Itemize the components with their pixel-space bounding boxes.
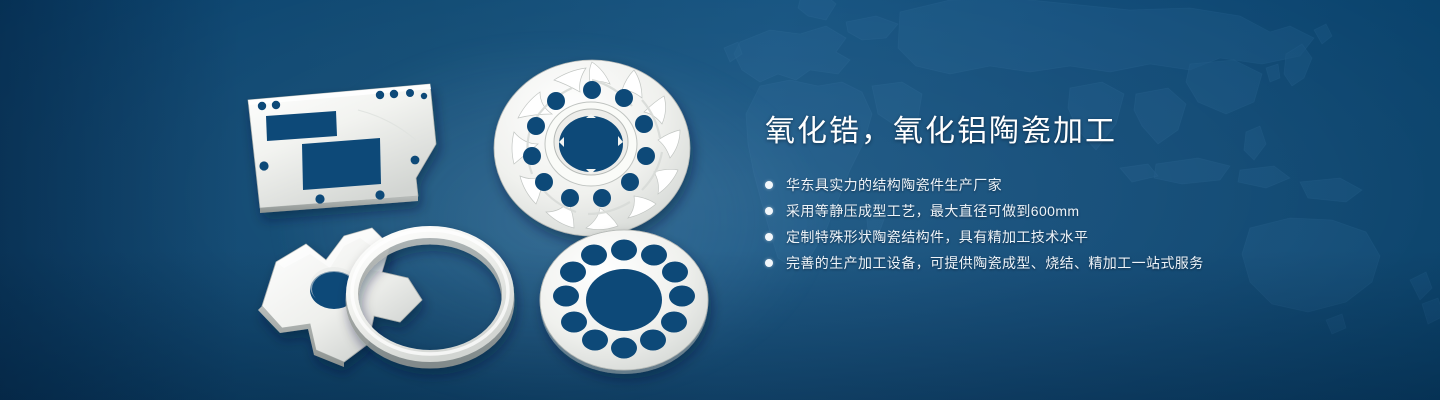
banner-copy: 氧化锆，氧化铝陶瓷加工 华东具实力的结构陶瓷件生产厂家 采用等静压成型工艺，最大… [765,112,1365,278]
feature-text: 华东具实力的结构陶瓷件生产厂家 [786,174,1002,196]
ceramic-plate-with-cutouts [248,84,436,213]
bullet-dot-icon [765,207,773,215]
page-title: 氧化锆，氧化铝陶瓷加工 [765,112,1365,152]
ceramic-impeller-vaned-disc [494,60,690,236]
bullet-dot-icon [765,259,773,267]
list-item: 定制特殊形状陶瓷结构件，具有精加工技术水平 [765,226,1365,248]
list-item: 华东具实力的结构陶瓷件生产厂家 [765,174,1365,196]
hero-banner: 氧化锆，氧化铝陶瓷加工 华东具实力的结构陶瓷件生产厂家 采用等静压成型工艺，最大… [0,0,1440,400]
bullet-dot-icon [765,233,773,241]
list-item: 完善的生产加工设备，可提供陶瓷成型、烧结、精加工一站式服务 [765,252,1365,274]
feature-list: 华东具实力的结构陶瓷件生产厂家 采用等静压成型工艺，最大直径可做到600mm 定… [765,174,1365,274]
feature-text: 完善的生产加工设备，可提供陶瓷成型、烧结、精加工一站式服务 [786,252,1204,274]
feature-text: 采用等静压成型工艺，最大直径可做到600mm [786,200,1079,222]
bullet-dot-icon [765,181,773,189]
ceramic-products-image [240,48,720,378]
ceramic-perforated-ring-disc [540,230,708,374]
feature-text: 定制特殊形状陶瓷结构件，具有精加工技术水平 [786,226,1088,248]
list-item: 采用等静压成型工艺，最大直径可做到600mm [765,200,1365,222]
